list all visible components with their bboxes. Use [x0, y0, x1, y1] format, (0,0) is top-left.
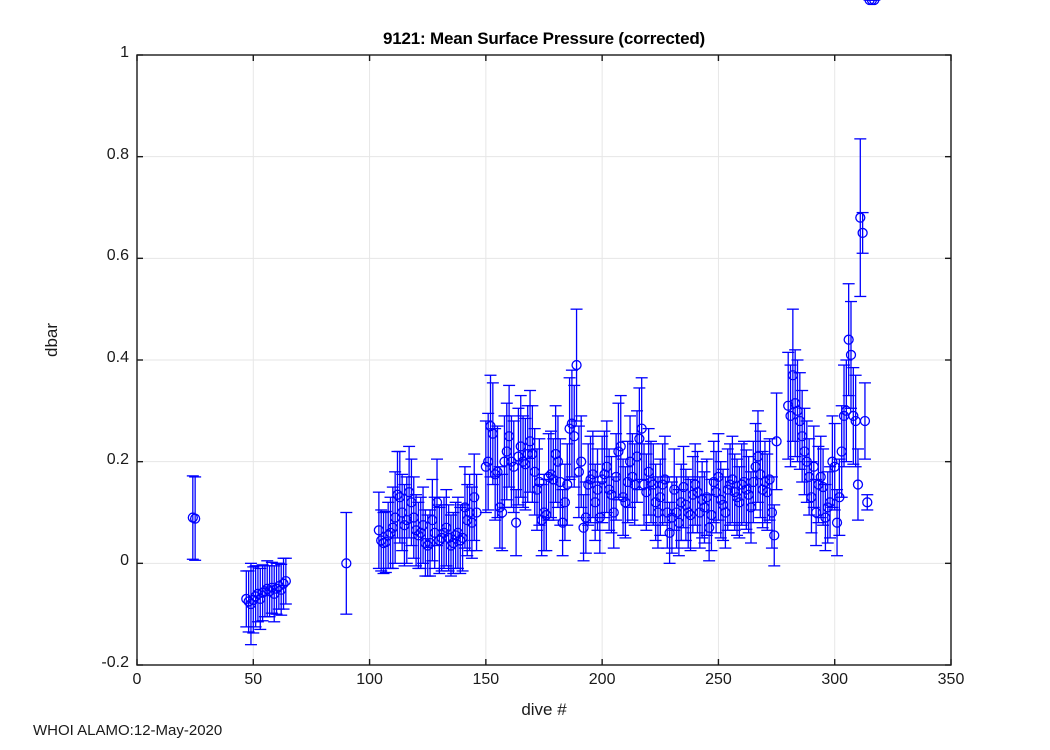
- x-axis-label: dive #: [137, 700, 951, 720]
- y-tick-label: 0.4: [69, 349, 129, 367]
- plot-canvas: [0, 0, 1050, 750]
- x-tick-label: 250: [683, 671, 753, 689]
- y-tick-label: 0: [69, 552, 129, 570]
- x-tick-labels: 050100150200250300350: [0, 671, 1050, 701]
- y-tick-label: 1: [69, 44, 129, 62]
- x-tick-label: 350: [916, 671, 986, 689]
- x-tick-label: 100: [335, 671, 405, 689]
- chart-figure: 9121: Mean Surface Pressure (corrected) …: [0, 0, 1050, 750]
- x-tick-label: 300: [800, 671, 870, 689]
- grid-lines: [137, 55, 951, 665]
- x-tick-label: 0: [102, 671, 172, 689]
- y-tick-label: 0.8: [69, 146, 129, 164]
- data-series: [187, 0, 880, 645]
- y-tick-label: -0.2: [69, 654, 129, 672]
- footer-note: WHOI ALAMO:12-May-2020: [33, 722, 222, 739]
- x-tick-label: 150: [451, 671, 521, 689]
- y-tick-label: 0.2: [69, 451, 129, 469]
- x-tick-label: 200: [567, 671, 637, 689]
- y-tick-label: 0.6: [69, 247, 129, 265]
- y-axis-label: dbar: [42, 280, 62, 400]
- y-tick-labels: -0.200.20.40.60.81: [63, 0, 129, 750]
- x-tick-label: 50: [218, 671, 288, 689]
